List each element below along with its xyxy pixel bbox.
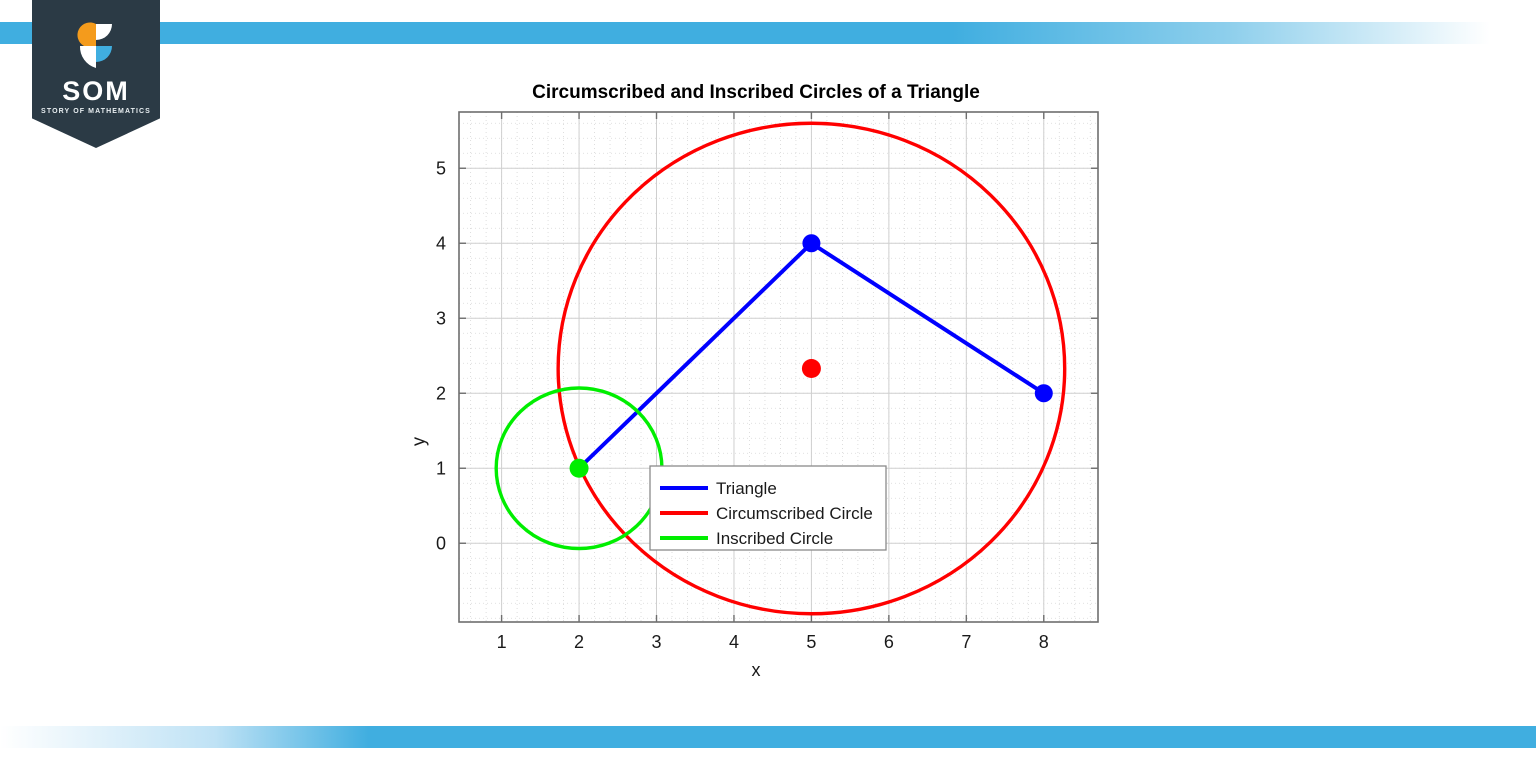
chart-legend: TriangleCircumscribed CircleInscribed Ci… — [650, 466, 886, 550]
bottom-banner-bar — [0, 726, 1536, 748]
svg-text:3: 3 — [436, 308, 446, 328]
top-banner-bar — [0, 22, 1536, 44]
svg-text:2: 2 — [436, 383, 446, 403]
svg-text:Circumscribed Circle: Circumscribed Circle — [716, 504, 873, 523]
som-wordmark: SOM — [32, 78, 160, 105]
svg-text:7: 7 — [961, 632, 971, 652]
svg-text:8: 8 — [1039, 632, 1049, 652]
svg-text:5: 5 — [436, 158, 446, 178]
svg-text:5: 5 — [806, 632, 816, 652]
svg-text:4: 4 — [729, 632, 739, 652]
svg-text:Triangle: Triangle — [716, 479, 777, 498]
svg-text:1: 1 — [436, 458, 446, 478]
svg-text:4: 4 — [436, 233, 446, 253]
svg-text:2: 2 — [574, 632, 584, 652]
x-axis-label: x — [400, 660, 1112, 681]
svg-text:1: 1 — [497, 632, 507, 652]
svg-text:0: 0 — [436, 533, 446, 553]
chart-figure: Circumscribed and Inscribed Circles of a… — [400, 76, 1112, 686]
plot-canvas: 12345678012345 TriangleCircumscribed Cir… — [400, 76, 1112, 686]
svg-text:Inscribed Circle: Inscribed Circle — [716, 529, 833, 548]
y-axis-label: y — [409, 412, 430, 472]
som-monogram-icon — [72, 22, 120, 70]
svg-text:3: 3 — [652, 632, 662, 652]
svg-text:6: 6 — [884, 632, 894, 652]
som-tagline: STORY OF MATHEMATICS — [32, 108, 160, 115]
som-logo-badge: SOM STORY OF MATHEMATICS — [32, 0, 160, 148]
